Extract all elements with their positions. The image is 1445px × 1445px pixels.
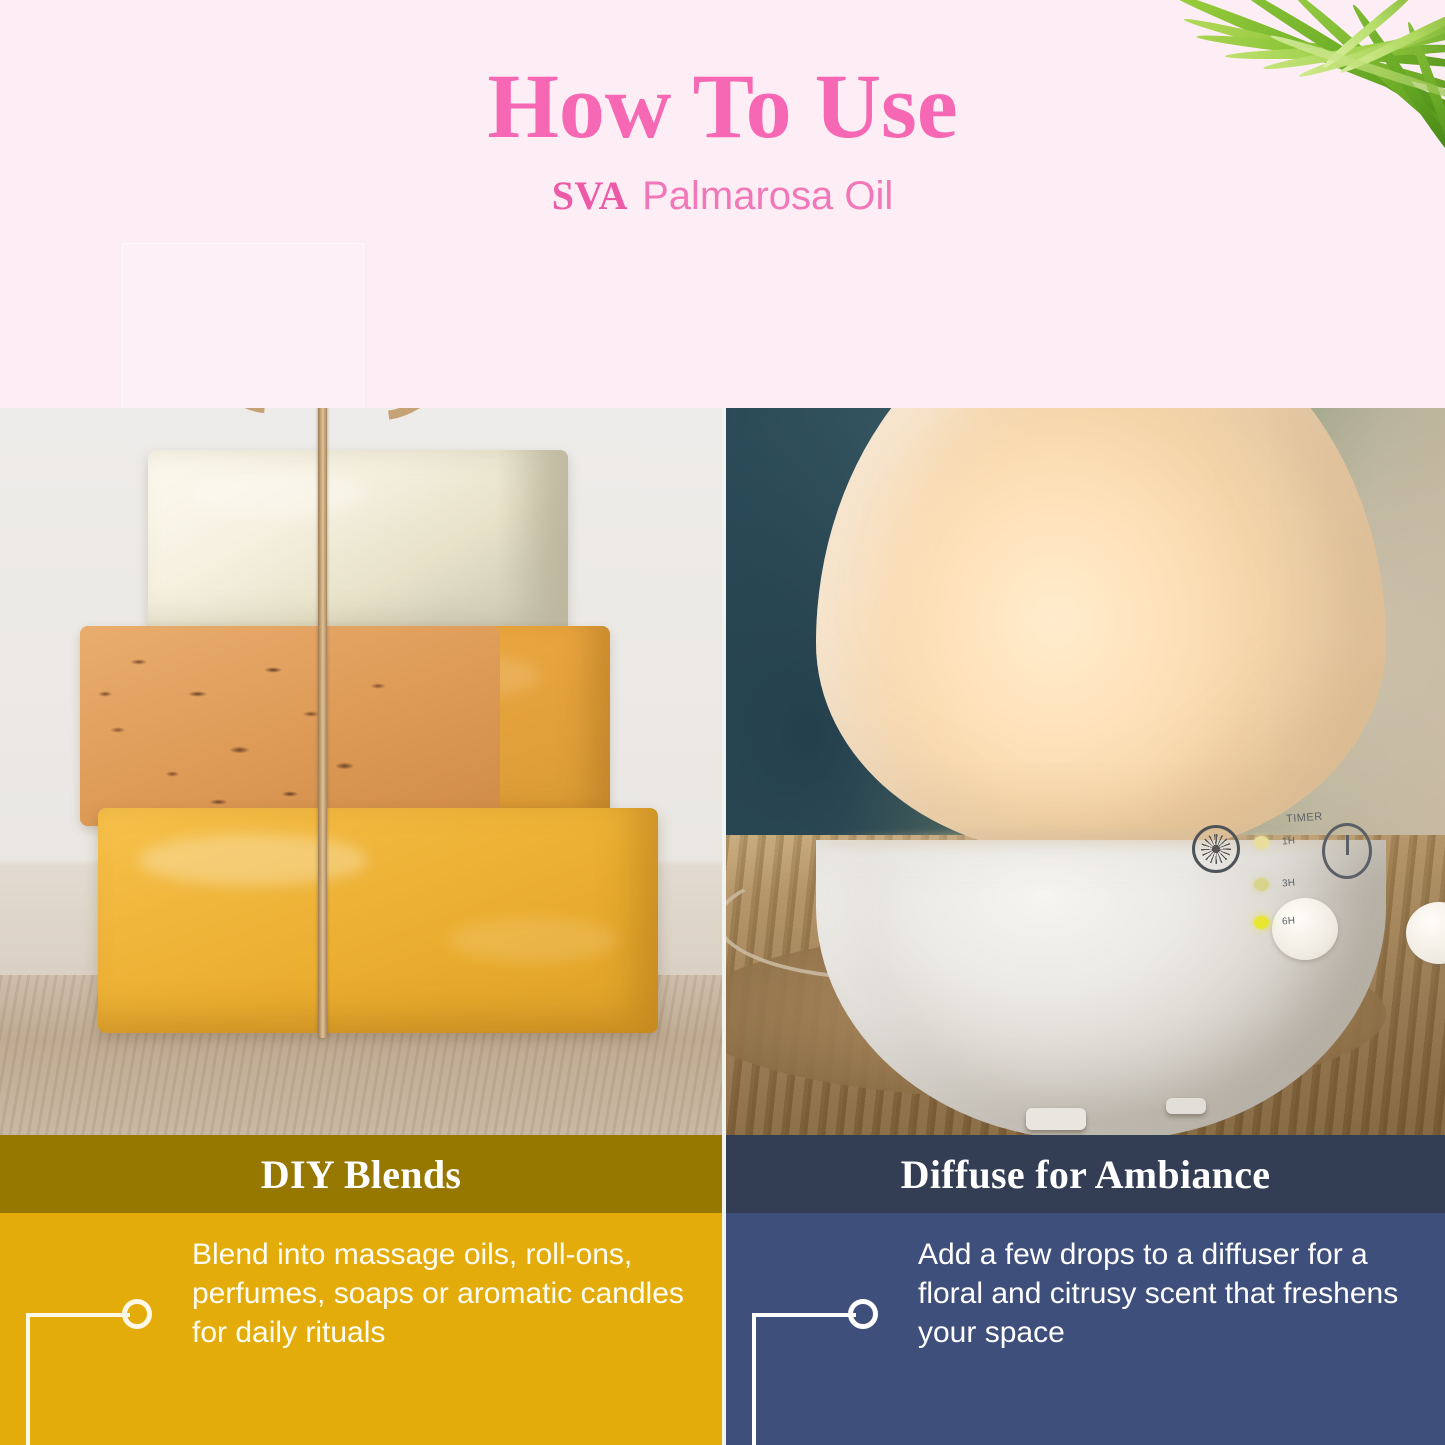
connector-vertical bbox=[752, 1315, 756, 1445]
diffuser-photo: TIMER 1H 3H 6H bbox=[726, 408, 1445, 1135]
light-icon bbox=[1192, 825, 1240, 873]
panel-heading-label: Diffuse for Ambiance bbox=[901, 1151, 1271, 1198]
connector-vertical bbox=[26, 1315, 30, 1445]
connector-line-right bbox=[726, 1213, 906, 1445]
diffuser-foot-center bbox=[1026, 1108, 1086, 1130]
timer-led-3h bbox=[1254, 878, 1269, 891]
connector-horizontal bbox=[752, 1313, 856, 1317]
panel-heading-diy-blends: DIY Blends bbox=[0, 1135, 722, 1213]
timer-label: TIMER bbox=[1286, 811, 1323, 826]
twine-bow bbox=[196, 408, 526, 468]
connector-dot-icon bbox=[848, 1299, 878, 1329]
product-name: Palmarosa Oil bbox=[642, 174, 893, 218]
brand-name: SVA bbox=[552, 173, 628, 218]
timer-option-6h: 6H bbox=[1282, 916, 1296, 928]
diffuser-light-button[interactable] bbox=[1272, 898, 1338, 960]
connector-horizontal bbox=[26, 1313, 130, 1317]
soap-bar-herb-speckled bbox=[80, 626, 500, 826]
soap-bar-golden-bottom bbox=[98, 808, 658, 1033]
timer-led-6h bbox=[1254, 916, 1269, 929]
panel-heading-diffuse-for-ambiance: Diffuse for Ambiance bbox=[726, 1135, 1445, 1213]
connector-dot-icon bbox=[122, 1299, 152, 1329]
panel-body-diffuse-for-ambiance: Add a few drops to a diffuser for a flor… bbox=[726, 1213, 1445, 1445]
timer-led-1h bbox=[1254, 836, 1269, 849]
panel-body-diy-blends: Blend into massage oils, roll-ons, perfu… bbox=[0, 1213, 722, 1445]
soap-herb-specks bbox=[80, 626, 500, 826]
diffuser-seam bbox=[822, 832, 1380, 854]
timer-option-1h: 1H bbox=[1282, 836, 1296, 848]
soap-photo bbox=[0, 408, 722, 1135]
twine-vertical-strand bbox=[318, 408, 327, 1038]
panel-body-text: Blend into massage oils, roll-ons, perfu… bbox=[192, 1235, 692, 1352]
connector-line-left bbox=[0, 1213, 180, 1445]
panel-body-text: Add a few drops to a diffuser for a flor… bbox=[918, 1235, 1418, 1352]
header-section: How To Use SVAPalmarosa Oil bbox=[0, 0, 1445, 408]
timer-option-3h: 3H bbox=[1282, 878, 1296, 890]
diffuser-glowing-dome bbox=[816, 408, 1386, 856]
infographic-canvas: How To Use SVAPalmarosa Oil bbox=[0, 0, 1445, 1445]
palmarosa-grass-icon bbox=[1075, 0, 1445, 290]
soap-bar-white bbox=[148, 450, 568, 640]
diffuser-foot-right bbox=[1166, 1098, 1206, 1114]
power-icon bbox=[1322, 823, 1372, 879]
header-decor-box bbox=[122, 243, 364, 408]
panel-heading-label: DIY Blends bbox=[261, 1151, 461, 1198]
